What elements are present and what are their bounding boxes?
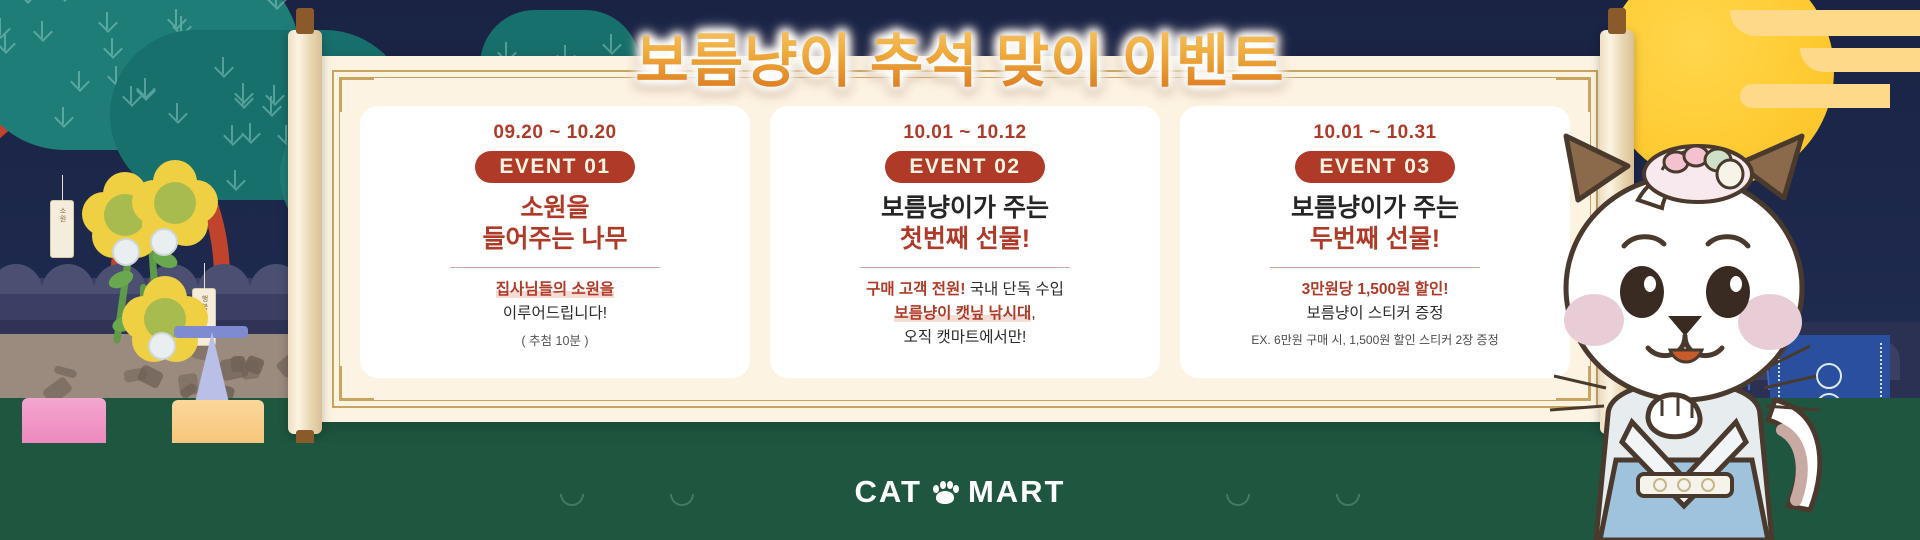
- logo-text-mart: MART: [968, 474, 1066, 510]
- logo-text-cat: CAT: [855, 474, 922, 510]
- leaf-decor-icon: [1226, 494, 1250, 506]
- wish-tag-text: 소원: [57, 207, 67, 223]
- event-card-heading-line1: 소원을: [483, 193, 628, 224]
- event-card-badge: EVENT 01: [475, 151, 634, 183]
- banner-title-text: 보름냥이 추석 맞이 이벤트: [635, 14, 1284, 98]
- event-card-highlight: 구매 고객 전원!: [866, 281, 965, 298]
- catmart-logo[interactable]: CAT MART: [855, 474, 1066, 510]
- event-card-heading-line2: 첫번째 선물!: [881, 224, 1049, 255]
- event-card-body: 구매 고객 전원! 국내 단독 수입 보름냥이 캣닢 낚시대, 오직 캣마트에서…: [866, 278, 1064, 350]
- event-card-badge: EVENT 02: [885, 151, 1044, 183]
- event-card-body-rest: 국내 단독 수입: [965, 281, 1063, 298]
- event-card-heading-line2: 두번째 선물!: [1291, 224, 1459, 255]
- event-card-note: ( 추첨 10분 ): [521, 330, 588, 349]
- event-card-highlight: 집사님들의 소원을: [496, 281, 614, 298]
- event-card-body-line2-rest: ,: [1031, 305, 1035, 322]
- event-card-heading-line1: 보름냥이가 주는: [1291, 193, 1459, 224]
- event-card-highlight: 3만원당 1,500원 할인!: [1302, 281, 1449, 298]
- event-card-heading-line2: 들어주는 나무: [483, 224, 628, 255]
- leaf-decor-icon: [670, 494, 694, 506]
- flower-bud-icon: [150, 228, 178, 256]
- event-card-body: 집사님들의 소원을 이루어드립니다!: [496, 278, 614, 326]
- event-card-example: EX. 6만원 구매 시, 1,500원 할인 스티커 2장 증정: [1251, 331, 1498, 348]
- event-card-date: 09.20 ~ 10.20: [493, 122, 616, 144]
- event-card-heading: 소원을 들어주는 나무: [483, 193, 628, 256]
- banner-title: 보름냥이 추석 맞이 이벤트: [0, 14, 1920, 98]
- flower-bud-icon: [112, 238, 140, 266]
- divider: [860, 267, 1070, 268]
- event-card-03[interactable]: 10.01 ~ 10.31 EVENT 03 보름냥이가 주는 두번째 선물! …: [1180, 106, 1570, 378]
- paw-icon: [932, 480, 958, 504]
- event-card-body: 3만원당 1,500원 할인! 보름냥이 스티커 증정: [1302, 278, 1449, 326]
- event-card-01[interactable]: 09.20 ~ 10.20 EVENT 01 소원을 들어주는 나무 집사님들의…: [360, 106, 750, 378]
- divider: [450, 267, 660, 268]
- event-card-02[interactable]: 10.01 ~ 10.12 EVENT 02 보름냥이가 주는 첫번째 선물! …: [770, 106, 1160, 378]
- event-banner: 소원 행복: [0, 0, 1920, 540]
- flower-bud-icon: [148, 332, 176, 360]
- event-card-heading: 보름냥이가 주는 두번째 선물!: [1291, 193, 1459, 256]
- cat-mascot: [1520, 70, 1850, 540]
- event-card-badge: EVENT 03: [1295, 151, 1454, 183]
- wish-tag: 소원: [50, 200, 74, 258]
- event-card-body-line3: 오직 캣마트에서만!: [866, 326, 1064, 350]
- event-card-heading-line1: 보름냥이가 주는: [881, 193, 1049, 224]
- event-card-highlight-2: 보름냥이 캣닢 낚시대: [894, 305, 1031, 322]
- event-card-list: 09.20 ~ 10.20 EVENT 01 소원을 들어주는 나무 집사님들의…: [360, 106, 1570, 378]
- event-card-body-line2: 보름냥이 스티커 증정: [1302, 302, 1449, 326]
- event-card-heading: 보름냥이가 주는 첫번째 선물!: [881, 193, 1049, 256]
- tag-string: [62, 175, 63, 201]
- event-card-date: 10.01 ~ 10.12: [903, 122, 1026, 144]
- leaf-decor-icon: [1336, 494, 1360, 506]
- leaf-decor-icon: [560, 494, 584, 506]
- event-card-body-line2: 이루어드립니다!: [496, 302, 614, 326]
- event-card-date: 10.01 ~ 10.31: [1313, 122, 1436, 144]
- divider: [1270, 267, 1480, 268]
